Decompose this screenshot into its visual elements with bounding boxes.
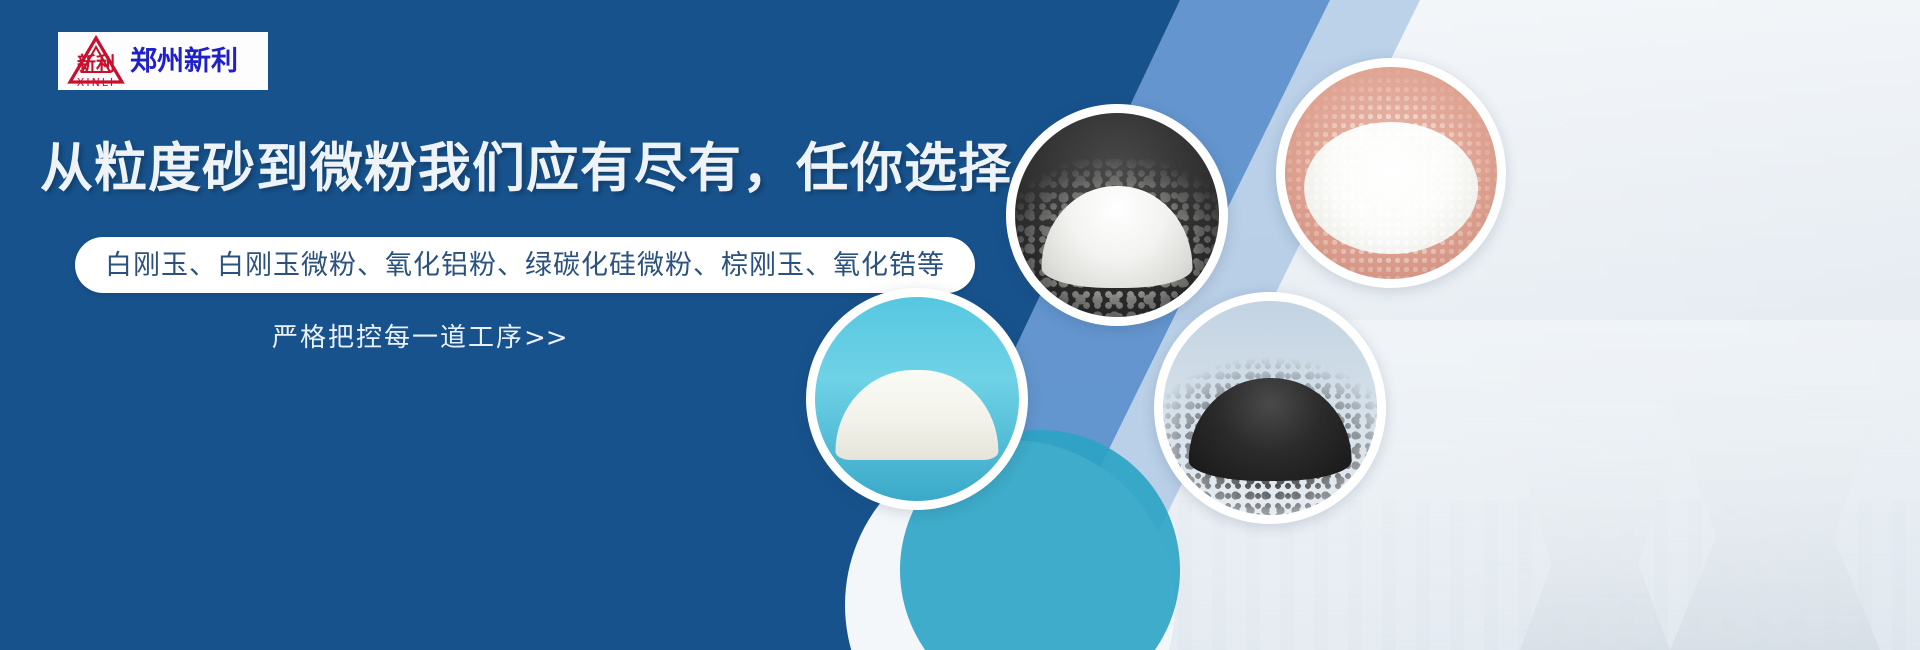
chevron-right-icon: >> xyxy=(524,323,568,353)
product-list-text: 白刚玉、白刚玉微粉、氧化铝粉、绿碳化硅微粉、棕刚玉、氧化锆等 xyxy=(105,252,945,279)
company-logo[interactable]: 新利 XINLI 郑州新利 xyxy=(58,32,268,90)
logo-wordmark: 郑州新利 xyxy=(130,48,238,75)
page-title: 从粒度砂到微粉我们应有尽有，任你选择 xyxy=(40,140,1012,198)
xinli-triangle-icon: 新利 XINLI xyxy=(66,34,126,88)
cta-label: 严格把控每一道工序 xyxy=(272,323,524,353)
promo-banner: 新利 XINLI 郑州新利 从粒度砂到微粉我们应有尽有，任你选择 白刚玉、白刚玉… xyxy=(0,0,1920,650)
material-pile xyxy=(835,370,998,460)
svg-text:XINLI: XINLI xyxy=(77,76,115,88)
product-photo-white-alumina-micropowder xyxy=(1276,58,1506,288)
product-photo-aluminium-oxide-powder xyxy=(806,288,1028,510)
product-photo-green-silicon-carbide-grit xyxy=(1154,292,1386,524)
product-photo-white-fused-alumina-grit xyxy=(1006,104,1228,326)
product-list-pill: 白刚玉、白刚玉微粉、氧化铝粉、绿碳化硅微粉、棕刚玉、氧化锆等 xyxy=(75,237,975,293)
cta-link[interactable]: 严格把控每一道工序>> xyxy=(272,325,568,351)
svg-text:新利: 新利 xyxy=(77,52,115,75)
grain-texture xyxy=(1285,67,1497,279)
